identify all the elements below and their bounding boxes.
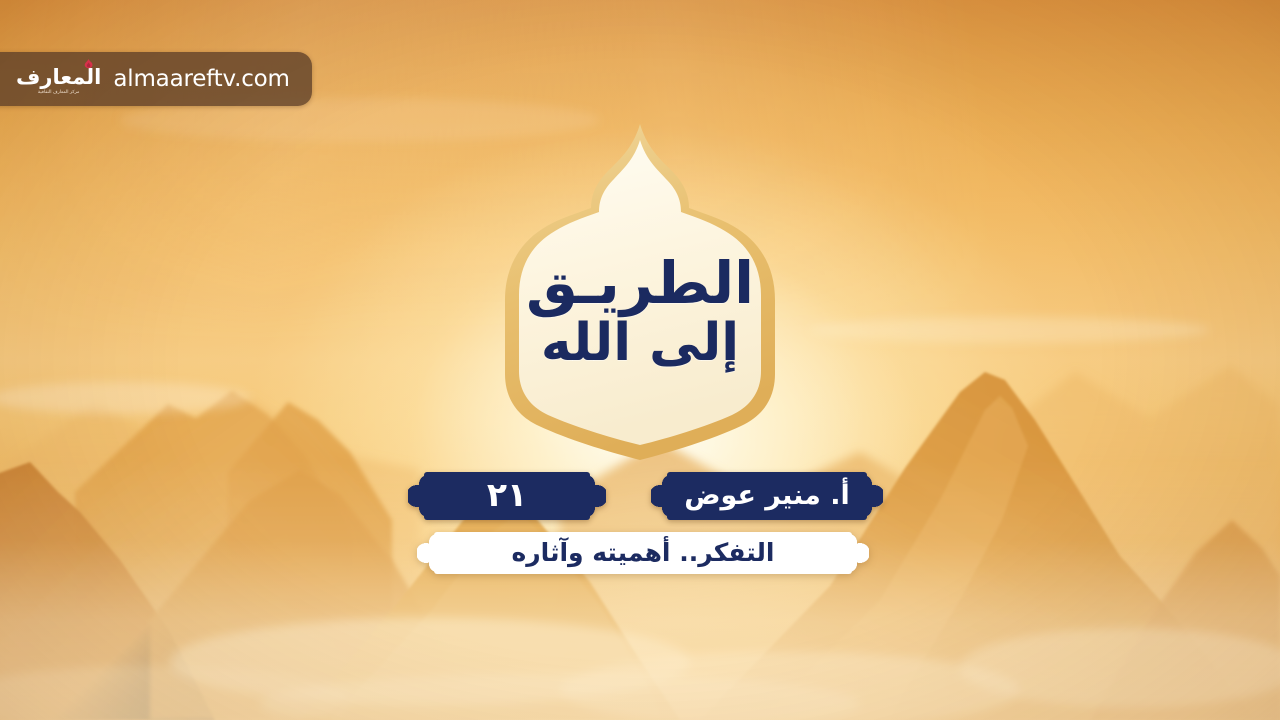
presenter-name-text: أ. منير عوض (684, 482, 850, 511)
episode-number-badge: ٢١ (424, 472, 590, 520)
almaaref-logo: المعارف مركز المعارف الثقافية (16, 62, 101, 96)
video-frame: المعارف مركز المعارف الثقافية almaareftv… (0, 0, 1280, 720)
program-title-medallion: الطريـق إلى الله (475, 122, 805, 462)
title-line-2: إلى الله (475, 317, 805, 370)
episode-title-banner: التفكر.. أهميته وآثاره (434, 532, 852, 574)
presenter-name-badge: أ. منير عوض (667, 472, 867, 520)
flame-icon (83, 59, 94, 71)
channel-watermark: المعارف مركز المعارف الثقافية almaareftv… (0, 52, 312, 106)
episode-title-text: التفكر.. أهميته وآثاره (512, 540, 775, 567)
lower-third-badges: ٢١ أ. منير عوض (0, 472, 1280, 526)
title-line-1: الطريـق (475, 254, 805, 313)
program-title: الطريـق إلى الله (475, 254, 805, 370)
episode-number-text: ٢١ (487, 478, 527, 514)
watermark-domain: almaareftv.com (113, 66, 289, 92)
logo-subtitle: مركز المعارف الثقافية (38, 91, 80, 95)
